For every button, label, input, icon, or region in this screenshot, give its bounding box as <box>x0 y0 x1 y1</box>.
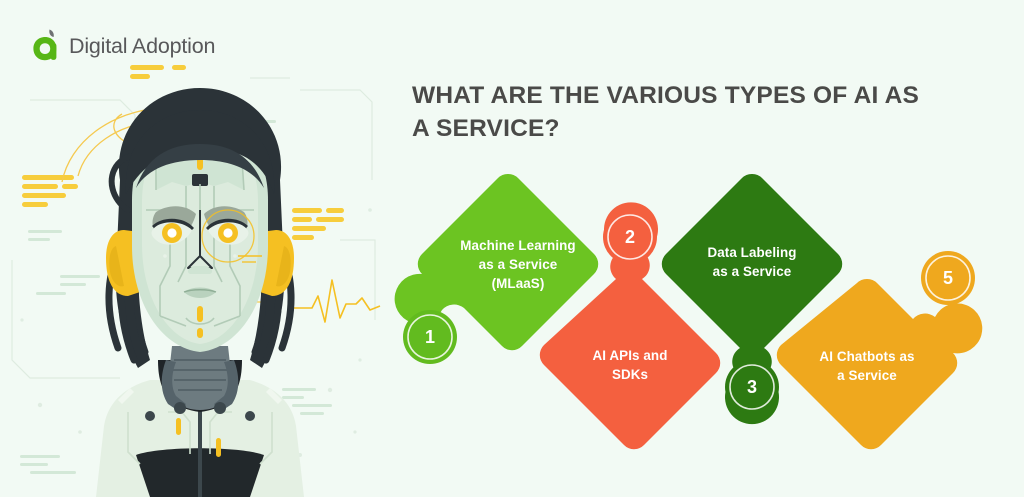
badge-5-circle <box>921 251 975 305</box>
aiaas-types-diagram: Machine Learning as a Service (MLaaS) 1 … <box>390 160 1010 460</box>
card-ai-chatbots-as-a-service[interactable] <box>390 160 1010 460</box>
leaf-a-logo-icon <box>32 29 62 63</box>
page-title: WHAT ARE THE VARIOUS TYPES OF AI AS A SE… <box>412 80 932 146</box>
infographic-canvas: Digital Adoption WHAT ARE THE VARIOUS TY… <box>0 0 1024 497</box>
brand-name: Digital Adoption <box>69 34 215 59</box>
ai-robot-illustration <box>0 60 400 497</box>
